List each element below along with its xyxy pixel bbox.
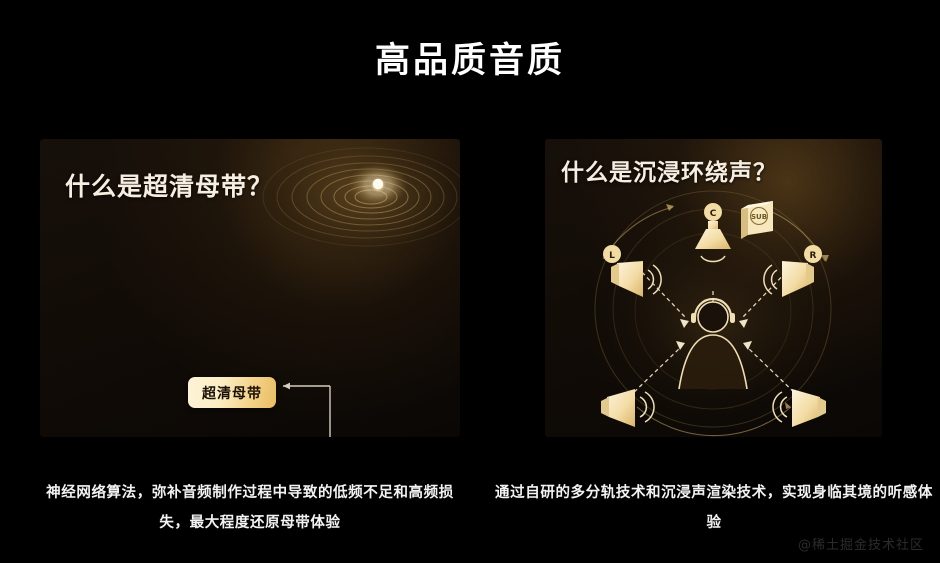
svg-text:C: C xyxy=(710,209,717,219)
caption-right: 通过自研的多分轨技术和沉浸声渲染技术，实现身临其境的听感体验 xyxy=(494,478,934,538)
card-immersive-surround: 什么是沉浸环绕声？ xyxy=(545,139,882,437)
watermark: @稀土掘金技术社区 xyxy=(798,534,924,553)
svg-text:SUB: SUB xyxy=(751,213,767,221)
page-title: 高品质音质 xyxy=(0,32,940,83)
surround-speaker-diagram: C SUB L xyxy=(545,139,882,437)
caption-left: 神经网络算法，弥补音频制作过程中导致的低频不足和高频损失，最大程度还原母带体验 xyxy=(34,478,466,538)
flow-node-master[interactable]: 超清母带 xyxy=(188,377,276,408)
svg-text:R: R xyxy=(810,251,817,261)
card-hd-master: 什么是超清母带？ xyxy=(40,139,460,437)
slide: 高品质音质 xyxy=(0,0,940,563)
svg-text:L: L xyxy=(609,251,615,261)
